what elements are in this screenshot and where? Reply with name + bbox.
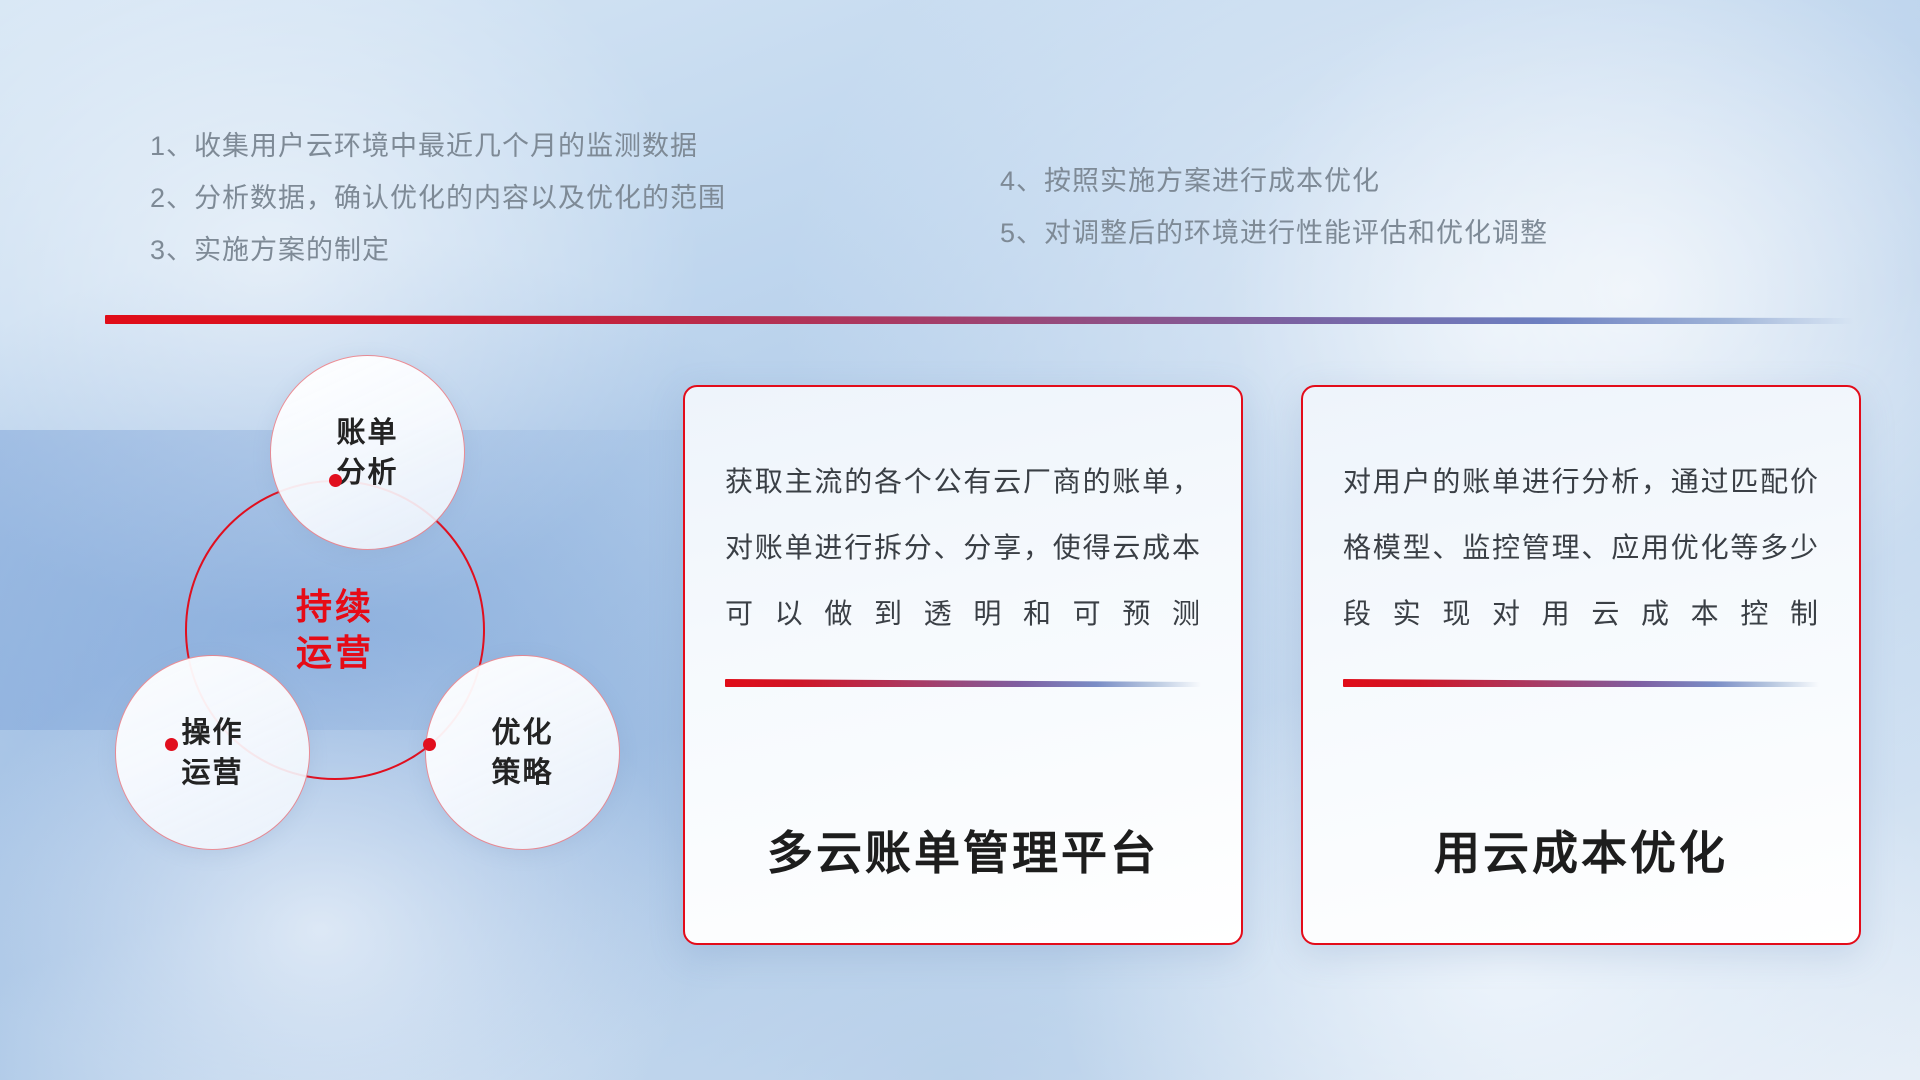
- step-item-4: 4、按照实施方案进行成本优化: [1000, 155, 1548, 207]
- venn-center-label: 持续 运营: [296, 584, 374, 676]
- card-title: 多云账单管理平台: [725, 817, 1201, 883]
- steps-list: 1、收集用户云环境中最近几个月的监测数据 2、分析数据，确认优化的内容以及优化的…: [0, 0, 1920, 250]
- card-cloud-cost-optimization[interactable]: 对用户的账单进行分析，通过匹配价格模型、监控管理、应用优化等多少段实现对用云成本…: [1301, 385, 1861, 945]
- venn-center-label-line2: 运营: [296, 632, 374, 673]
- venn-center-label-line1: 持续: [296, 586, 374, 627]
- venn-node-billing-analysis[interactable]: 账单 分析: [270, 355, 465, 550]
- card-body-text: 对用户的账单进行分析，通过匹配价格模型、监控管理、应用优化等多少段实现对用云成本…: [1343, 449, 1819, 647]
- step-item-5: 5、对调整后的环境进行性能评估和优化调整: [1000, 207, 1548, 259]
- venn-diagram: 持续 运营 账单 分析 操作 运营 优化 策略: [100, 355, 640, 955]
- venn-node-label-line1: 优化: [491, 717, 553, 749]
- card-body-text: 获取主流的各个公有云厂商的账单，对账单进行拆分、分享，使得云成本可以做到透明和可…: [725, 449, 1201, 647]
- venn-node-label-line2: 运营: [181, 757, 243, 789]
- step-item-1: 1、收集用户云环境中最近几个月的监测数据: [150, 120, 726, 172]
- card-multi-cloud-billing-platform[interactable]: 获取主流的各个公有云厂商的账单，对账单进行拆分、分享，使得云成本可以做到透明和可…: [683, 385, 1243, 945]
- steps-right-column: 4、按照实施方案进行成本优化 5、对调整后的环境进行性能评估和优化调整: [1000, 155, 1548, 259]
- venn-node-label: 账单 分析: [336, 413, 398, 493]
- venn-node-optimization-strategy[interactable]: 优化 策略: [425, 655, 620, 850]
- card-divider-rule: [725, 679, 1201, 687]
- venn-node-label-line2: 分析: [336, 457, 398, 489]
- step-item-2: 2、分析数据，确认优化的内容以及优化的范围: [150, 172, 726, 224]
- step-item-3: 3、实施方案的制定: [150, 224, 726, 276]
- venn-node-label: 操作 运营: [181, 713, 243, 793]
- venn-connector-dot-left: [165, 738, 178, 751]
- steps-left-column: 1、收集用户云环境中最近几个月的监测数据 2、分析数据，确认优化的内容以及优化的…: [150, 120, 726, 276]
- card-title: 用云成本优化: [1343, 817, 1819, 883]
- venn-connector-dot-top: [329, 474, 342, 487]
- venn-node-label-line1: 操作: [181, 717, 243, 749]
- venn-connector-dot-right: [423, 738, 436, 751]
- venn-node-label: 优化 策略: [491, 713, 553, 793]
- card-divider-rule: [1343, 679, 1819, 687]
- venn-node-operations[interactable]: 操作 运营: [115, 655, 310, 850]
- venn-node-label-line1: 账单: [336, 417, 398, 449]
- venn-node-label-line2: 策略: [491, 757, 553, 789]
- feature-cards: 获取主流的各个公有云厂商的账单，对账单进行拆分、分享，使得云成本可以做到透明和可…: [683, 385, 1863, 945]
